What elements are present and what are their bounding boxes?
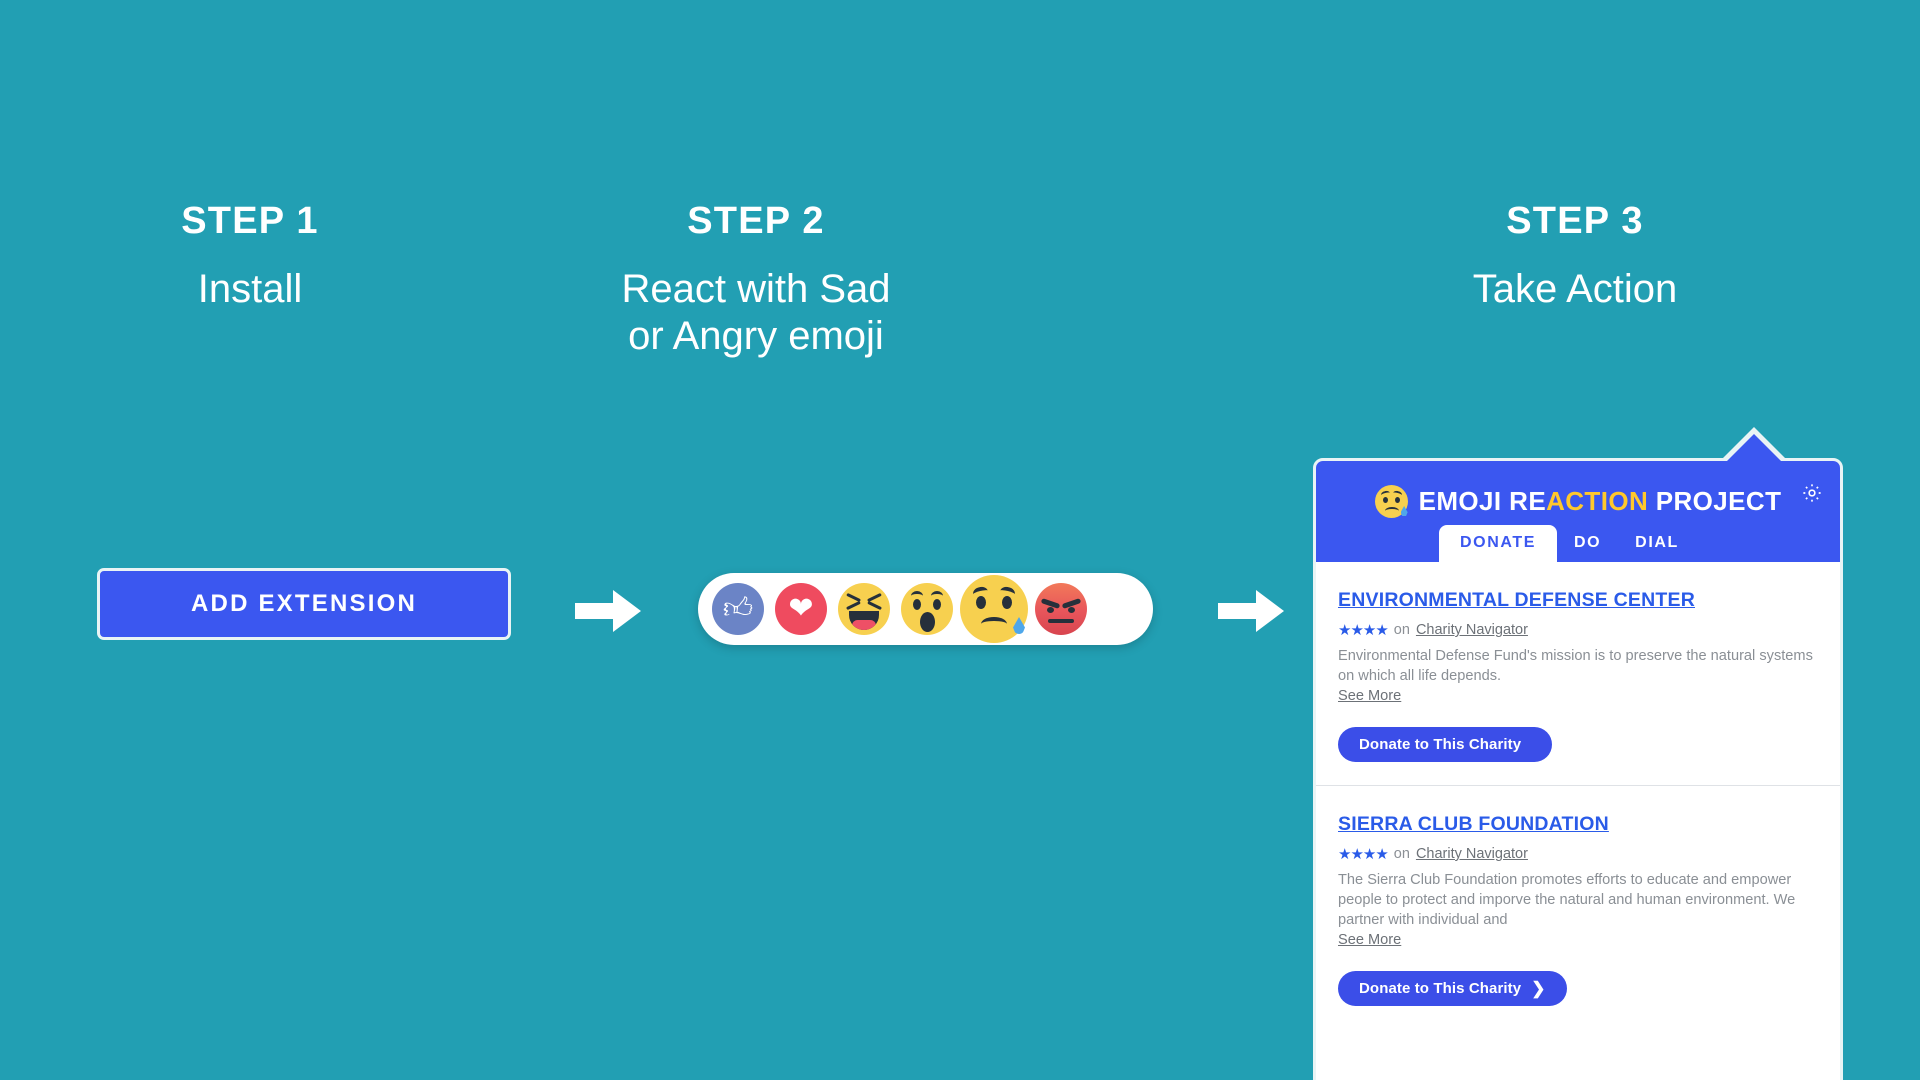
rating-source-link[interactable]: Charity Navigator bbox=[1416, 846, 1528, 862]
sad-eye-left bbox=[976, 596, 986, 609]
popup-pointer bbox=[1718, 427, 1790, 463]
haha-eye-left bbox=[846, 600, 861, 603]
reaction-like[interactable]: 👍︎ bbox=[712, 583, 764, 635]
charity-card: ENVIRONMENTAL DEFENSE CENTER ★★★★ on Cha… bbox=[1316, 562, 1840, 786]
donate-button-label: Donate to This Charity bbox=[1359, 736, 1521, 753]
reaction-wow[interactable] bbox=[901, 583, 953, 635]
reaction-sad[interactable] bbox=[960, 575, 1028, 643]
popup-body: ENVIRONMENTAL DEFENSE CENTER ★★★★ on Cha… bbox=[1316, 562, 1840, 1029]
tab-dial[interactable]: DIAL bbox=[1618, 525, 1696, 562]
donate-to-charity-button[interactable]: Donate to This Charity bbox=[1338, 727, 1552, 762]
step-2-description: React with Sad or Angry emoji bbox=[606, 266, 906, 360]
popup-title: EMOJI REACTION PROJECT bbox=[1316, 485, 1840, 518]
haha-eye-right bbox=[867, 600, 882, 603]
angry-eye-right bbox=[1068, 607, 1075, 613]
wow-mouth bbox=[920, 612, 935, 632]
see-more-link[interactable]: See More bbox=[1338, 932, 1401, 948]
rating-source-link[interactable]: Charity Navigator bbox=[1416, 622, 1528, 638]
charity-card: SIERRA CLUB FOUNDATION ★★★★ on Charity N… bbox=[1316, 786, 1840, 1029]
charity-description: The Sierra Club Foundation promotes effo… bbox=[1338, 871, 1818, 931]
step-2-number: STEP 2 bbox=[606, 202, 906, 240]
step-2-heading: STEP 2 React with Sad or Angry emoji bbox=[606, 202, 906, 360]
emoji-reaction-bar[interactable]: 👍︎ ❤︎ bbox=[698, 573, 1153, 645]
extension-popup: EMOJI REACTION PROJECT DONATE DO DIAL EN… bbox=[1313, 458, 1843, 1080]
step-1-heading: STEP 1 Install bbox=[100, 202, 400, 313]
rating-prefix: on bbox=[1394, 846, 1410, 862]
charity-rating-row: ★★★★ on Charity Navigator bbox=[1338, 621, 1818, 639]
sad-face-icon bbox=[1375, 485, 1408, 518]
popup-title-text: EMOJI REACTION PROJECT bbox=[1419, 486, 1782, 517]
reaction-angry[interactable] bbox=[1035, 583, 1087, 635]
star-rating-icon: ★★★★ bbox=[1338, 621, 1388, 639]
step-3-number: STEP 3 bbox=[1425, 202, 1725, 240]
wow-eye-left bbox=[913, 599, 921, 610]
star-rating-icon: ★★★★ bbox=[1338, 845, 1388, 863]
tab-donate[interactable]: DONATE bbox=[1439, 525, 1557, 562]
thumbs-up-icon: 👍︎ bbox=[723, 595, 753, 624]
donate-to-charity-button[interactable]: Donate to This Charity ❯ bbox=[1338, 971, 1567, 1006]
heart-icon: ❤︎ bbox=[788, 594, 813, 624]
sad-mouth bbox=[981, 617, 1007, 631]
sad-eye-right bbox=[1002, 596, 1012, 609]
add-extension-button[interactable]: ADD EXTENSION bbox=[97, 568, 511, 640]
see-more-link[interactable]: See More bbox=[1338, 688, 1401, 704]
angry-eye-left bbox=[1047, 607, 1054, 613]
sad-tear-icon bbox=[1013, 617, 1025, 634]
angry-mouth bbox=[1048, 619, 1074, 623]
rating-prefix: on bbox=[1394, 622, 1410, 638]
title-part-1: EMOJI RE bbox=[1419, 486, 1546, 516]
step-1-description: Install bbox=[100, 266, 400, 313]
arrow-right-icon-1 bbox=[575, 588, 641, 634]
donate-button-label: Donate to This Charity bbox=[1359, 980, 1521, 997]
chevron-right-icon: ❯ bbox=[1531, 980, 1545, 997]
reaction-love[interactable]: ❤︎ bbox=[775, 583, 827, 635]
step-1-number: STEP 1 bbox=[100, 202, 400, 240]
title-highlight: ACTION bbox=[1546, 486, 1648, 516]
popup-tabs[interactable]: DONATE DO DIAL bbox=[1316, 525, 1840, 562]
title-part-2: PROJECT bbox=[1648, 486, 1781, 516]
charity-description: Environmental Defense Fund's mission is … bbox=[1338, 647, 1818, 687]
haha-mouth bbox=[849, 611, 879, 630]
popup-header: EMOJI REACTION PROJECT DONATE DO DIAL bbox=[1316, 461, 1840, 562]
tab-do[interactable]: DO bbox=[1557, 525, 1618, 562]
charity-rating-row: ★★★★ on Charity Navigator bbox=[1338, 845, 1818, 863]
arrow-right-icon-2 bbox=[1218, 588, 1284, 634]
steps-header-row: STEP 1 Install STEP 2 React with Sad or … bbox=[0, 0, 1920, 420]
charity-name-link[interactable]: SIERRA CLUB FOUNDATION bbox=[1338, 813, 1609, 836]
reaction-haha[interactable] bbox=[838, 583, 890, 635]
step-3-description: Take Action bbox=[1425, 266, 1725, 313]
gear-icon[interactable] bbox=[1801, 482, 1823, 504]
wow-eye-right bbox=[933, 599, 941, 610]
step-3-heading: STEP 3 Take Action bbox=[1425, 202, 1725, 313]
charity-name-link[interactable]: ENVIRONMENTAL DEFENSE CENTER bbox=[1338, 589, 1695, 612]
